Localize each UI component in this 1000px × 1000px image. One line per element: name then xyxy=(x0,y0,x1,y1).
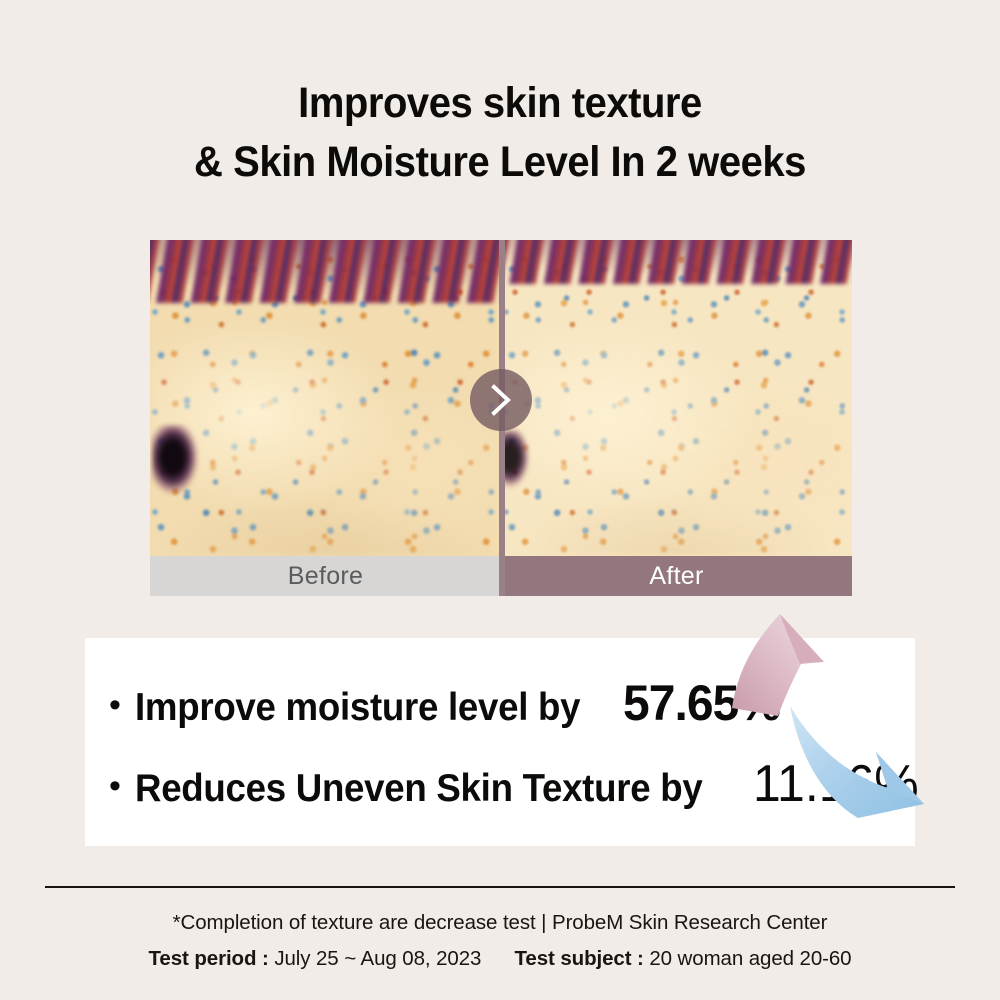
before-caption-bar: Before xyxy=(150,556,501,596)
before-pane: Before xyxy=(150,240,501,596)
footnote-source: *Completion of texture are decrease test… xyxy=(0,908,1000,939)
skin-blemish xyxy=(501,430,529,490)
skin-blemish xyxy=(152,425,198,497)
stat-label-texture: Reduces Uneven Skin Texture by xyxy=(135,767,702,811)
after-skin-photo xyxy=(501,240,852,556)
after-caption-bar: After xyxy=(501,556,852,596)
test-period-label: Test period : xyxy=(149,947,269,970)
after-label: After xyxy=(649,562,703,591)
footnote: *Completion of texture are decrease test… xyxy=(0,908,1000,975)
after-pane: After xyxy=(501,240,852,596)
bullet-icon: • xyxy=(109,769,121,803)
page-title: Improves skin texture & Skin Moisture Le… xyxy=(0,82,1000,184)
bullet-icon: • xyxy=(109,688,121,722)
stat-row-moisture: • Improve moisture level by 57.65% xyxy=(109,674,786,732)
test-subject-label: Test subject : xyxy=(515,947,644,970)
skin-texture-image xyxy=(501,240,852,556)
footnote-details: Test period : July 25 ~ Aug 08, 2023 Tes… xyxy=(0,944,1000,975)
test-subject-value: 20 woman aged 20-60 xyxy=(649,947,851,970)
before-label: Before xyxy=(288,562,363,591)
chevron-right-icon xyxy=(488,383,514,417)
hairline-band xyxy=(501,240,852,284)
stat-label-moisture: Improve moisture level by xyxy=(135,686,580,730)
headline-line-1: Improves skin texture xyxy=(35,82,965,125)
headline-line-2: & Skin Moisture Level In 2 weeks xyxy=(35,141,965,184)
footnote-divider xyxy=(45,886,955,888)
before-skin-photo xyxy=(150,240,501,556)
comparison-next-button[interactable] xyxy=(470,369,532,431)
arrow-down-icon xyxy=(784,700,932,828)
test-period-value: July 25 ~ Aug 08, 2023 xyxy=(274,947,481,970)
hairline-band xyxy=(150,240,501,303)
